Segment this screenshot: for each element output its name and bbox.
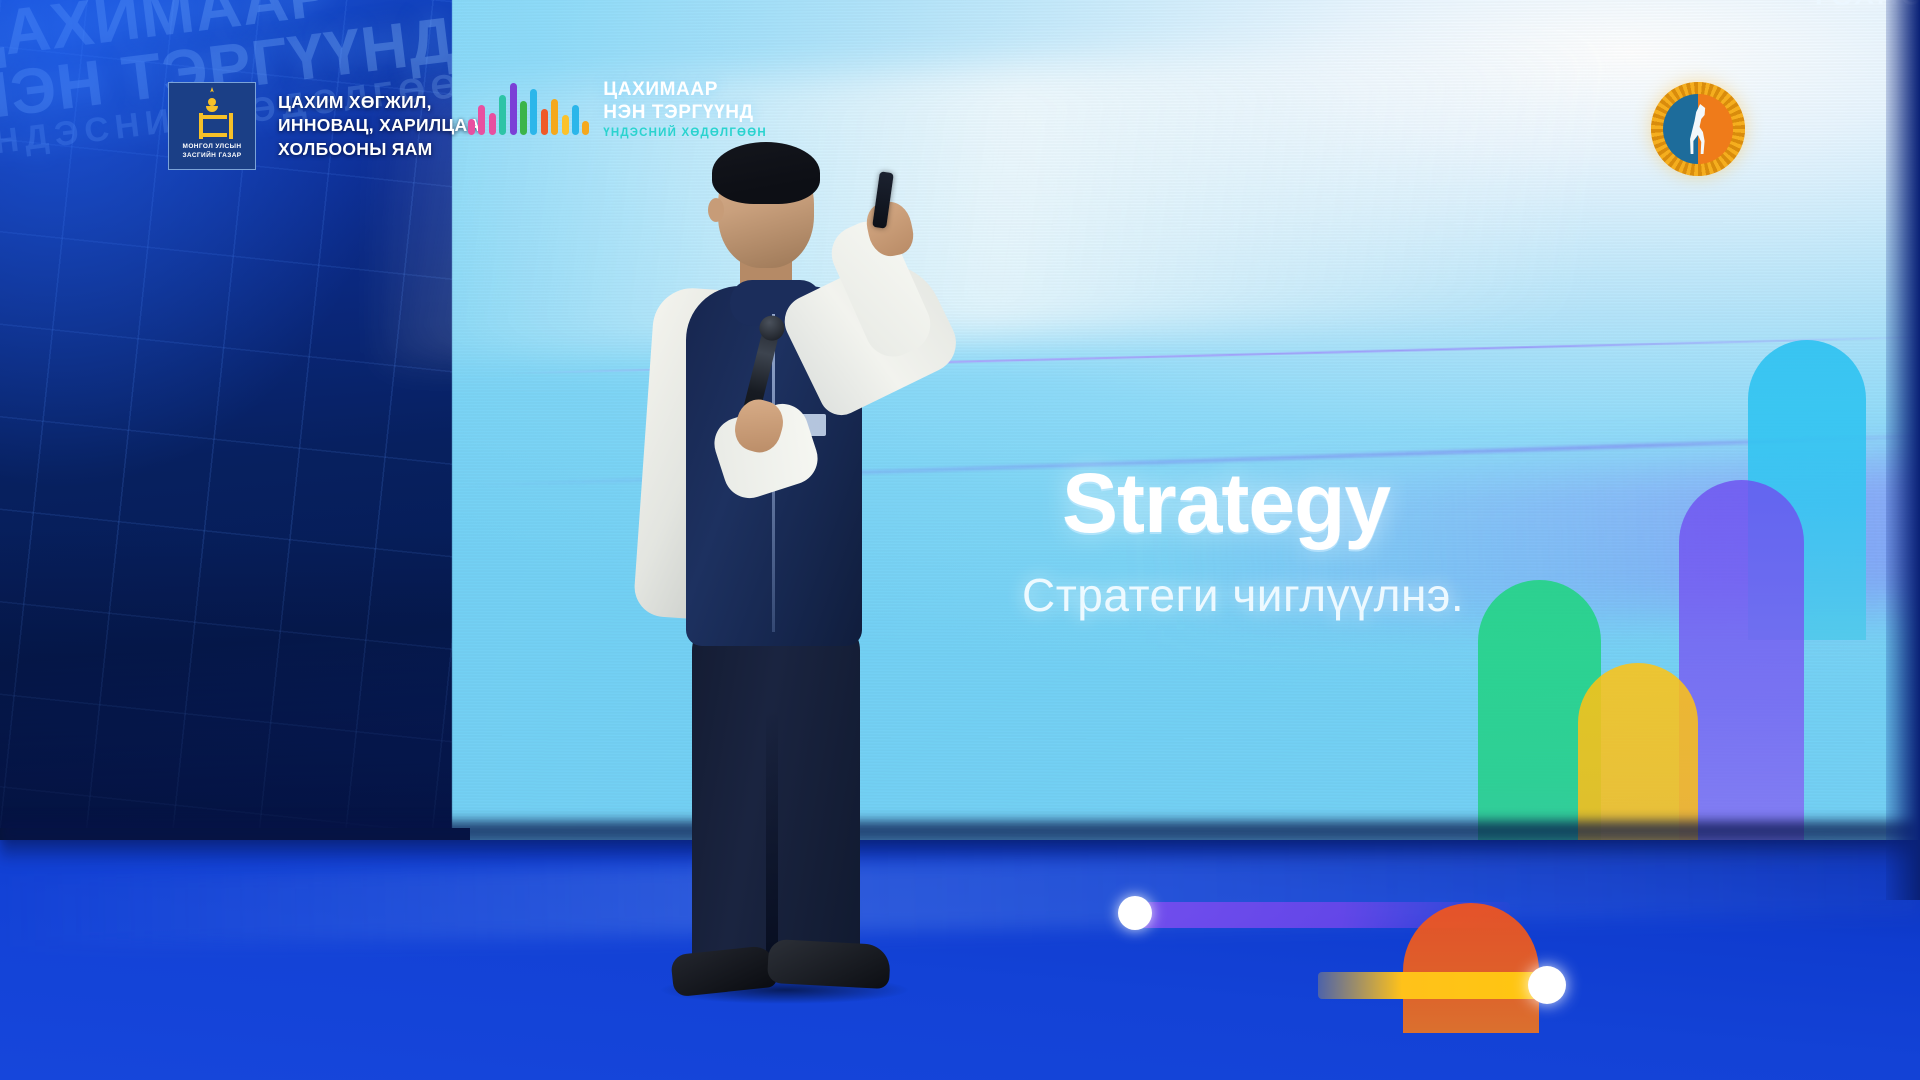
bar-yellow: [1318, 972, 1558, 999]
ministry-name-line-2: ИННОВАЦ, ХАРИЛЦАА: [278, 114, 480, 137]
screenshot-stage: ЦАХИМААР НЭН ТЭРГҮҮНД ҮНДЭСНИЙ ХӨДӨЛГӨӨН…: [0, 0, 1920, 1080]
soyombo-glyph: [195, 87, 229, 141]
movement-name-line-1: ЦАХИМААР: [603, 78, 767, 101]
movement-name: ЦАХИМААР НЭН ТЭРГҮҮНД ҮНДЭСНИЙ ХӨДӨЛГӨӨН: [603, 78, 767, 139]
movement-tagline: ҮНДЭСНИЙ ХӨДӨЛГӨӨН: [603, 127, 767, 139]
national-emblem-icon: [1651, 82, 1745, 176]
presenter-leg-gap: [766, 710, 778, 960]
stage-floor: [0, 840, 1920, 1080]
soyombo-body: [199, 113, 233, 139]
presenter-ear: [708, 198, 724, 222]
dot-white-middle: [1118, 896, 1152, 930]
national-emblem-disc: [1663, 94, 1733, 164]
soyombo-emblem-icon: МОНГОЛ УЛСЫН ЗАСГИЙН ГАЗАР: [168, 82, 256, 170]
soyombo-sun: [208, 98, 216, 106]
ministry-name-line-3: ХОЛБООНЫ ЯАМ: [278, 138, 480, 161]
presenter: [600, 150, 960, 1020]
movement-name-line-2: НЭН ТЭРГҮҮНД: [603, 101, 767, 124]
slide-subheadline: Стратеги чиглүүлнэ.: [1022, 568, 1464, 622]
slide-headline: Strategy: [1062, 455, 1390, 552]
ministry-name-line-1: ЦАХИМ ХӨГЖИЛ,: [278, 91, 480, 114]
dome-orange: [1403, 903, 1539, 1033]
presenter-shoe-right: [767, 939, 891, 989]
stage-right-frame: [1886, 0, 1920, 900]
presenter-hair: [712, 142, 820, 204]
emblem-caption-line-2: ЗАСГИЙН ГАЗАР: [182, 152, 241, 161]
ministry-name: ЦАХИМ ХӨГЖИЛ, ИННОВАЦ, ХАРИЛЦАА ХОЛБООНЫ…: [278, 91, 480, 160]
dot-white-right: [1528, 966, 1566, 1004]
movement-name-line-3: ҮНДЭСНИЙ ХӨДӨЛГӨӨН: [603, 127, 767, 139]
movement-logo-lockup: ЦАХИМААР НЭН ТЭРГҮҮНД ҮНДЭСНИЙ ХӨДӨЛГӨӨН: [468, 78, 767, 139]
soyombo-moon: [206, 106, 218, 112]
equalizer-bars-icon: [468, 83, 589, 135]
emblem-caption-line-1: МОНГОЛ УЛСЫН: [183, 143, 242, 152]
ministry-logo-lockup: МОНГОЛ УЛСЫН ЗАСГИЙН ГАЗАР ЦАХИМ ХӨГЖИЛ,…: [168, 82, 480, 170]
